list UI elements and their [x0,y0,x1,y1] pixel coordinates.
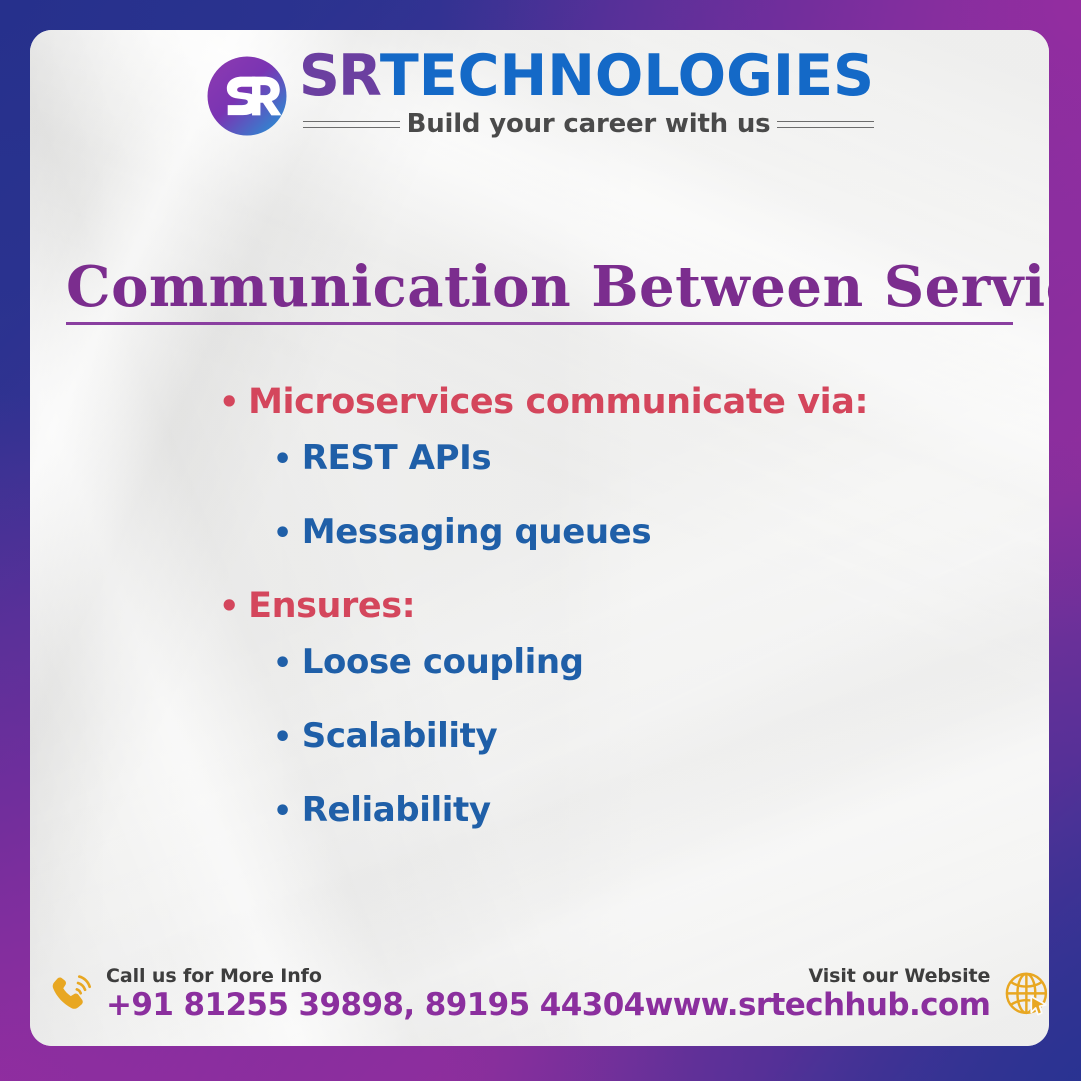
brand-tagline-row: Build your career with us [299,109,874,139]
page-title: Communication Between Services [66,258,1013,317]
title-underline [66,322,1013,325]
list-item-label: Loose coupling [302,642,584,682]
brand-header: SRTECHNOLOGIES Build your career with us [30,48,1049,139]
bullet-icon: • [219,386,239,418]
brand-tagline: Build your career with us [407,109,771,139]
list-item-label: Microservices communicate via: [248,382,868,422]
list-item-heading: • Microservices communicate via: [185,382,1009,422]
phone-numbers[interactable]: +91 81255 39898, 89195 44304 [106,988,645,1024]
list-item-heading: • Ensures: [185,586,1009,626]
poster-canvas: SRTECHNOLOGIES Build your career with us… [0,0,1081,1081]
list-group-1: • Ensures: • Loose coupling • Scalabilit… [185,586,1009,830]
paper-card: SRTECHNOLOGIES Build your career with us… [30,30,1049,1046]
list-item: • REST APIs [185,438,1009,478]
globe-cursor-icon [1002,969,1049,1021]
bullet-icon: • [273,723,292,753]
brand-name-sr: SR [299,43,380,109]
list-item-label: REST APIs [302,438,491,478]
website-url[interactable]: www.srtechhub.com [645,988,991,1024]
list-item-label: Reliability [302,790,491,830]
call-label: Call us for More Info [106,966,645,988]
bullet-icon: • [273,519,292,549]
list-group-0: • Microservices communicate via: • REST … [185,382,1009,552]
footer-contact-block[interactable]: Call us for More Info +91 81255 39898, 8… [46,966,645,1023]
website-label: Visit our Website [808,966,990,988]
brand-wordmark: SRTECHNOLOGIES [299,48,874,105]
footer-website-block[interactable]: Visit our Website www.srtechhub.com [645,966,1049,1023]
sr-monogram-circle-icon [205,54,289,138]
list-item: • Messaging queues [185,512,1009,552]
page-title-block: Communication Between Services [66,258,1013,325]
list-item-label: Ensures: [248,586,415,626]
content-list: • Microservices communicate via: • REST … [185,382,1009,864]
list-item: • Scalability [185,716,1009,756]
list-item: • Reliability [185,790,1009,830]
list-item-label: Messaging queues [302,512,651,552]
bullet-icon: • [273,797,292,827]
list-item: • Loose coupling [185,642,1009,682]
bullet-icon: • [273,649,292,679]
tagline-rule-left [303,121,400,128]
bullet-icon: • [219,590,239,622]
list-item-label: Scalability [302,716,498,756]
tagline-rule-right [777,121,874,128]
footer: Call us for More Info +91 81255 39898, 8… [30,952,1049,1038]
phone-call-icon [46,970,96,1020]
bullet-icon: • [273,445,292,475]
brand-name-technologies: TECHNOLOGIES [380,43,874,109]
